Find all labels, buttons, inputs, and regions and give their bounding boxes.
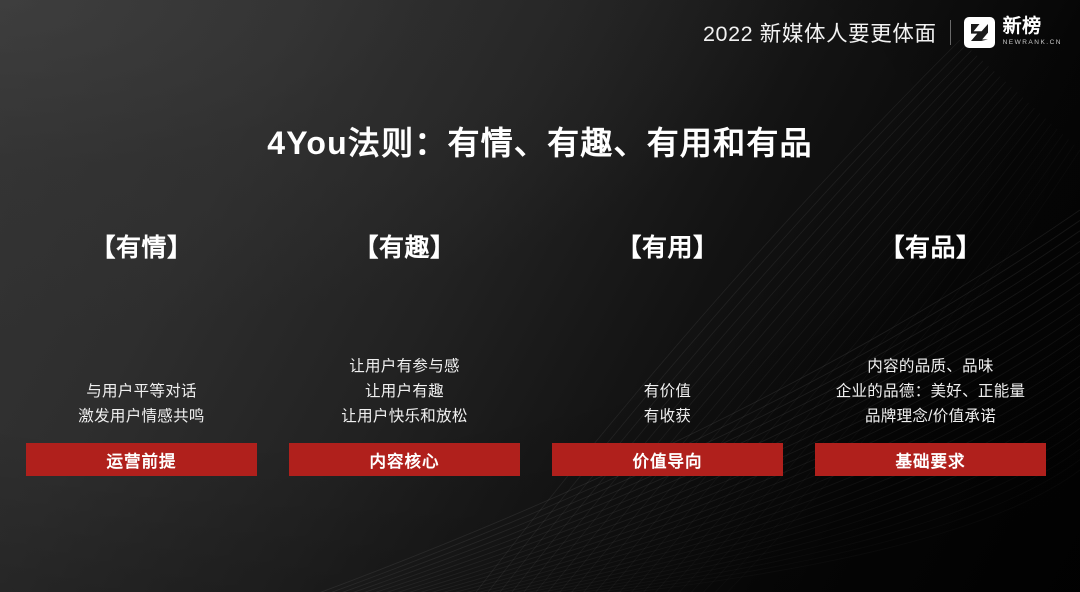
status-badge: 内容核心 [289,443,520,476]
column-youpin: 【有品】 内容的品质、品味 企业的品德：美好、正能量 品牌理念/价值承诺 基础要… [815,236,1046,476]
column-heading: 【有情】 [26,236,257,290]
column-description: 与用户平等对话 激发用户情感共鸣 [26,290,257,443]
column-heading: 【有品】 [815,236,1046,290]
description-line: 让用户有趣 [365,379,444,404]
header-branding: 2022 新媒体人要更体面 新榜 NEWRANK.CN [703,17,1062,48]
column-youqu: 【有趣】 让用户有参与感 让用户有趣 让用户快乐和放松 内容核心 [289,236,520,476]
description-line: 品牌理念/价值承诺 [865,404,996,429]
column-heading: 【有趣】 [289,236,520,290]
column-description: 内容的品质、品味 企业的品德：美好、正能量 品牌理念/价值承诺 [815,290,1046,443]
description-line: 让用户有参与感 [349,354,460,379]
column-description: 让用户有参与感 让用户有趣 让用户快乐和放松 [289,290,520,443]
brand-logo: 新榜 NEWRANK.CN [964,17,1062,48]
column-description: 有价值 有收获 [552,290,783,443]
page-title: 4You法则：有情、有趣、有用和有品 [0,118,1080,164]
status-badge: 运营前提 [26,443,257,476]
header-title: 2022 新媒体人要更体面 [703,17,937,48]
brand-name: 新榜 [1003,17,1062,37]
four-you-columns: 【有情】 与用户平等对话 激发用户情感共鸣 运营前提 【有趣】 让用户有参与感 … [26,236,1054,476]
description-line: 内容的品质、品味 [867,354,993,379]
column-heading: 【有用】 [552,236,783,290]
status-badge: 基础要求 [815,443,1046,476]
description-line: 有收获 [644,404,691,429]
description-line: 激发用户情感共鸣 [78,404,204,429]
description-line: 与用户平等对话 [86,379,197,404]
column-youqing: 【有情】 与用户平等对话 激发用户情感共鸣 运营前提 [26,236,257,476]
column-youyong: 【有用】 有价值 有收获 价值导向 [552,236,783,476]
description-line: 让用户快乐和放松 [341,404,467,429]
status-badge: 价值导向 [552,443,783,476]
description-line: 有价值 [644,379,691,404]
slide-canvas: 2022 新媒体人要更体面 新榜 NEWRANK.CN 4You法则：有情、有趣… [0,0,1080,592]
description-line: 企业的品德：美好、正能量 [836,379,1026,404]
brand-subtitle: NEWRANK.CN [1003,38,1062,48]
newrank-n-logo-icon [964,17,995,48]
header-divider [950,20,951,45]
